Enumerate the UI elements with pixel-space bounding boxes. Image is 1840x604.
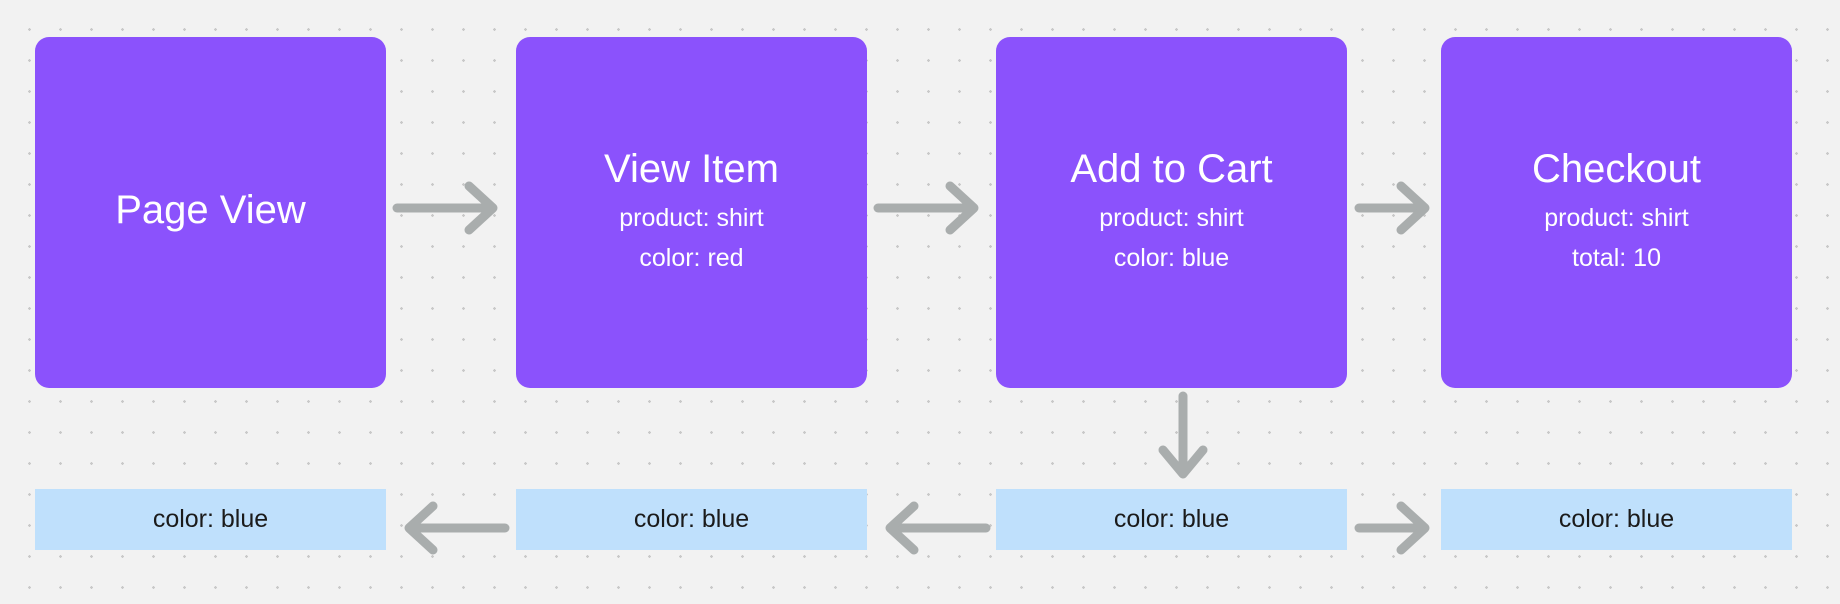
arrow-right-icon-add-to-cart-to-checkout: [1355, 180, 1441, 236]
property-box-label: color: blue: [1559, 505, 1674, 534]
event-node-view-item[interactable]: View Item product: shirt color: red: [516, 37, 867, 388]
event-node-title: Page View: [115, 187, 306, 234]
event-node-page-view[interactable]: Page View: [35, 37, 386, 388]
event-node-title: View Item: [604, 146, 779, 193]
property-box-3[interactable]: color: blue: [996, 489, 1347, 550]
property-box-label: color: blue: [634, 505, 749, 534]
arrow-right-icon-property-box-3-to-property-box-4: [1355, 500, 1441, 556]
event-node-checkout[interactable]: Checkout product: shirt total: 10: [1441, 37, 1792, 388]
event-node-title: Add to Cart: [1070, 146, 1272, 193]
diagram-canvas: Page View View Item product: shirt color…: [0, 0, 1840, 604]
event-node-property: color: red: [639, 238, 743, 279]
arrow-right-icon-view-item-to-add-to-cart: [874, 180, 990, 236]
event-node-property: product: shirt: [619, 198, 764, 239]
event-node-properties: product: shirt total: 10: [1544, 198, 1689, 279]
arrow-right-icon-page-view-to-view-item: [393, 180, 509, 236]
event-node-property: color: blue: [1114, 238, 1229, 279]
event-node-property: product: shirt: [1099, 198, 1244, 239]
event-node-add-to-cart[interactable]: Add to Cart product: shirt color: blue: [996, 37, 1347, 388]
property-box-label: color: blue: [153, 505, 268, 534]
property-box-1[interactable]: color: blue: [35, 489, 386, 550]
event-node-properties: product: shirt color: red: [619, 198, 764, 279]
event-node-property: total: 10: [1572, 238, 1661, 279]
property-box-4[interactable]: color: blue: [1441, 489, 1792, 550]
arrow-left-icon-property-box-3-to-property-box-2: [874, 500, 990, 556]
arrow-left-icon-property-box-2-to-property-box-1: [393, 500, 509, 556]
property-box-2[interactable]: color: blue: [516, 489, 867, 550]
property-box-label: color: blue: [1114, 505, 1229, 534]
event-node-title: Checkout: [1532, 146, 1701, 193]
arrow-down-icon-add-to-cart-to-property-box-3: [1155, 392, 1211, 484]
event-node-property: product: shirt: [1544, 198, 1689, 239]
event-node-properties: product: shirt color: blue: [1099, 198, 1244, 279]
